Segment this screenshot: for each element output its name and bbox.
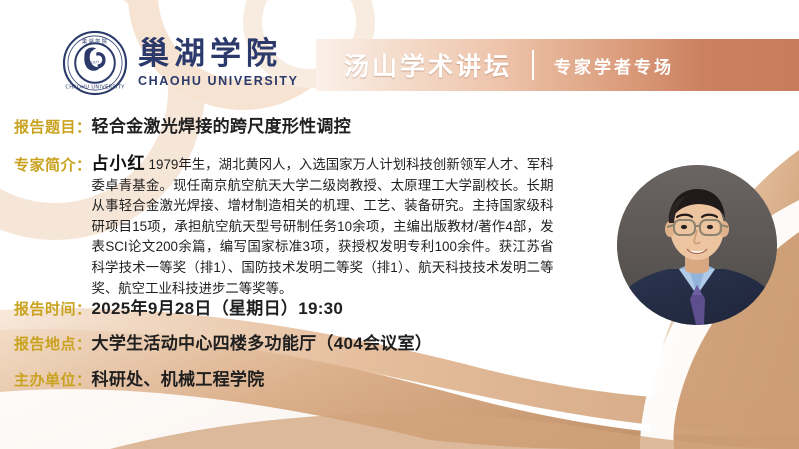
report-title-value: 轻合金激光焊接的跨尺度形性调控 xyxy=(92,112,352,137)
speaker-bio-paragraph: 1979年生，湖北黄冈人，入选国家万人计划科技创新领军人才、军科委卓青基金。现任… xyxy=(92,157,554,296)
chaohu-university-seal-icon: CHAOHU UNIVERSITY 巢湖学院 1977 xyxy=(62,30,128,96)
brand-block: CHAOHU UNIVERSITY 巢湖学院 1977 巢湖学院 CHAOHU … xyxy=(62,30,299,96)
speaker-bio-row: 专家简介： 占小红1979年生，湖北黄冈人，入选国家万人计划科技创新领军人才、军… xyxy=(14,154,554,299)
poster-header: CHAOHU UNIVERSITY 巢湖学院 1977 巢湖学院 CHAOHU … xyxy=(0,0,799,104)
banner-divider xyxy=(532,50,534,80)
university-name-cn: 巢湖学院 xyxy=(138,39,299,70)
university-name-en: CHAOHU UNIVERSITY xyxy=(138,75,299,88)
banner-title: 汤山学术讲坛 xyxy=(344,47,512,83)
event-banner: 汤山学术讲坛 专家学者专场 xyxy=(316,39,799,91)
report-place-row: 报告地点： 大学生活动中心四楼多功能厅（404会议室） xyxy=(14,329,432,354)
report-place-label: 报告地点： xyxy=(14,333,92,354)
report-time-row: 报告时间： 2025年9月28日（星期日）19:30 xyxy=(14,294,343,319)
report-time-value: 2025年9月28日（星期日）19:30 xyxy=(92,294,344,319)
banner-subtitle: 专家学者专场 xyxy=(554,53,674,78)
svg-text:CHAOHU UNIVERSITY: CHAOHU UNIVERSITY xyxy=(65,85,125,91)
svg-text:1977: 1977 xyxy=(91,61,99,65)
report-time-label: 报告时间： xyxy=(14,298,92,319)
speaker-name: 占小红 xyxy=(92,154,146,173)
host-organization-value: 科研处、机械工程学院 xyxy=(92,365,265,390)
report-title-row: 报告题目： 轻合金激光焊接的跨尺度形性调控 xyxy=(14,112,351,137)
speaker-portrait-image xyxy=(617,165,777,325)
seminar-poster: CHAOHU UNIVERSITY 巢湖学院 1977 巢湖学院 CHAOHU … xyxy=(0,0,799,449)
speaker-portrait xyxy=(617,165,777,325)
svg-text:巢湖学院: 巢湖学院 xyxy=(82,37,108,45)
host-organization-row: 主办单位： 科研处、机械工程学院 xyxy=(14,365,265,390)
report-place-value: 大学生活动中心四楼多功能厅（404会议室） xyxy=(92,329,433,354)
speaker-bio-label: 专家简介： xyxy=(14,154,92,175)
host-organization-label: 主办单位： xyxy=(14,369,92,390)
brand-text: 巢湖学院 CHAOHU UNIVERSITY xyxy=(138,39,299,88)
report-title-label: 报告题目： xyxy=(14,116,92,137)
speaker-bio-text: 占小红1979年生，湖北黄冈人，入选国家万人计划科技创新领军人才、军科委卓青基金… xyxy=(92,154,554,299)
poster-content: 报告题目： 轻合金激光焊接的跨尺度形性调控 专家简介： 占小红1979年生，湖北… xyxy=(0,104,799,449)
